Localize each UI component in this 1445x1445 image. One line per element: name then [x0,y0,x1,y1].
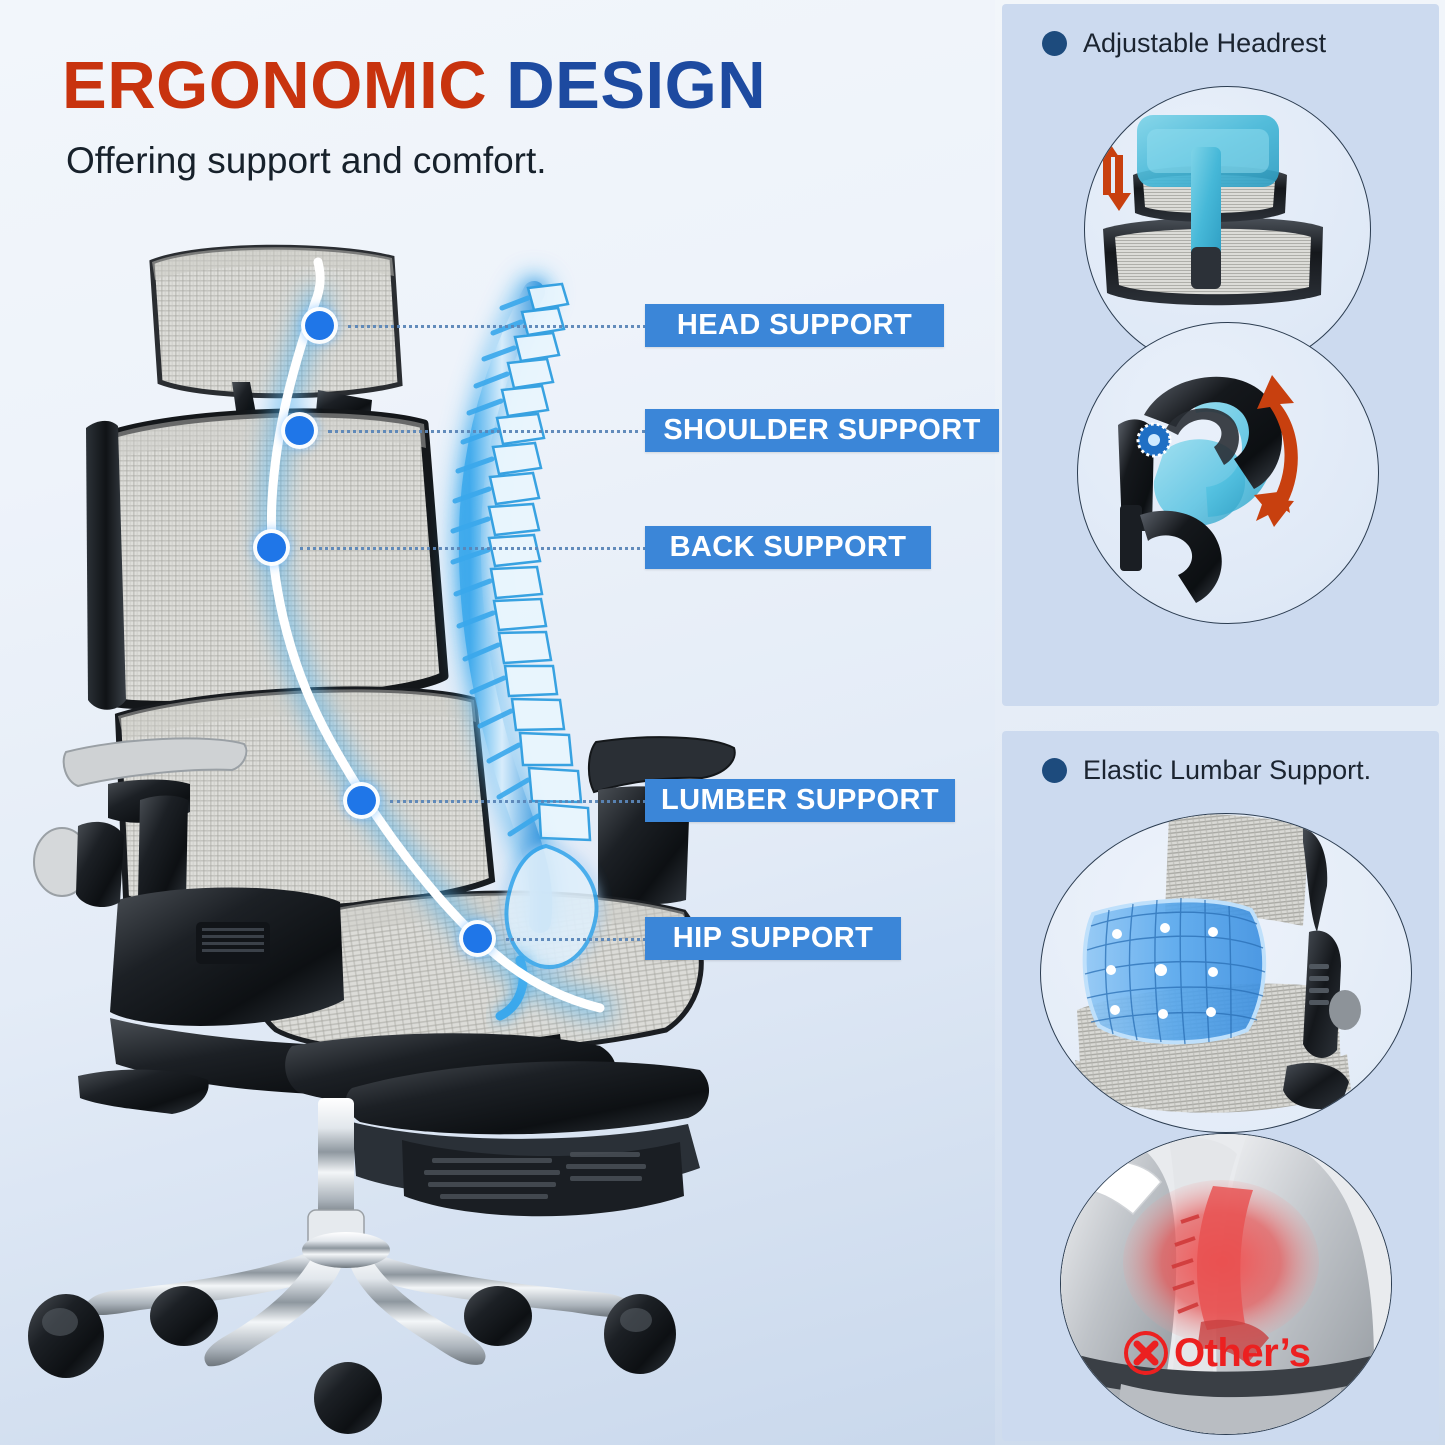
callout-back-support[interactable]: BACK SUPPORT [645,526,931,569]
node-head-support [305,311,334,340]
leader-line-hip [506,938,646,944]
bullet-dot-icon [1042,31,1067,56]
panel-bottom-header: Elastic Lumbar Support. [1042,755,1371,786]
leader-line-back [300,547,646,553]
node-shoulder-support [285,416,314,445]
panel-top-title: Adjustable Headrest [1083,28,1326,59]
chair-base [28,1232,676,1434]
panel-elastic-lumbar-support: Elastic Lumbar Support. [1002,731,1439,1441]
circled-x-icon [1122,1329,1170,1377]
node-hip-support [463,924,492,953]
chair-gas-cylinder [308,1098,364,1250]
bullet-dot-icon [1042,758,1067,783]
leader-line-head [348,325,646,331]
node-lumber-support [347,786,376,815]
callout-lumber-support[interactable]: LUMBER SUPPORT [645,779,955,822]
leader-line-lumber [390,800,646,806]
panel-adjustable-headrest: Adjustable Headrest [1002,4,1439,706]
panel-bottom-title: Elastic Lumbar Support. [1083,755,1371,786]
up-down-arrows-icon [1095,139,1131,211]
node-back-support [257,533,286,562]
leader-line-shoulder [328,430,646,436]
panel-top-header: Adjustable Headrest [1042,28,1326,59]
lumbar-mesh-figure [1040,813,1412,1133]
office-chair-illustration [0,0,995,1445]
back-pain-comparison-figure [1060,1133,1392,1435]
others-label: Other’s [1174,1331,1311,1376]
headrest-tilt-pivot-figure [1077,322,1379,624]
callout-shoulder-support[interactable]: SHOULDER SUPPORT [645,409,999,452]
chair-footrest [346,1061,709,1216]
callout-head-support[interactable]: HEAD SUPPORT [645,304,944,347]
callout-hip-support[interactable]: HIP SUPPORT [645,917,901,960]
product-infographic: ERGONOMIC DESIGN Offering support and co… [0,0,1445,1445]
left-hero-panel: ERGONOMIC DESIGN Offering support and co… [0,0,995,1445]
others-badge: Other’s [1122,1329,1311,1377]
